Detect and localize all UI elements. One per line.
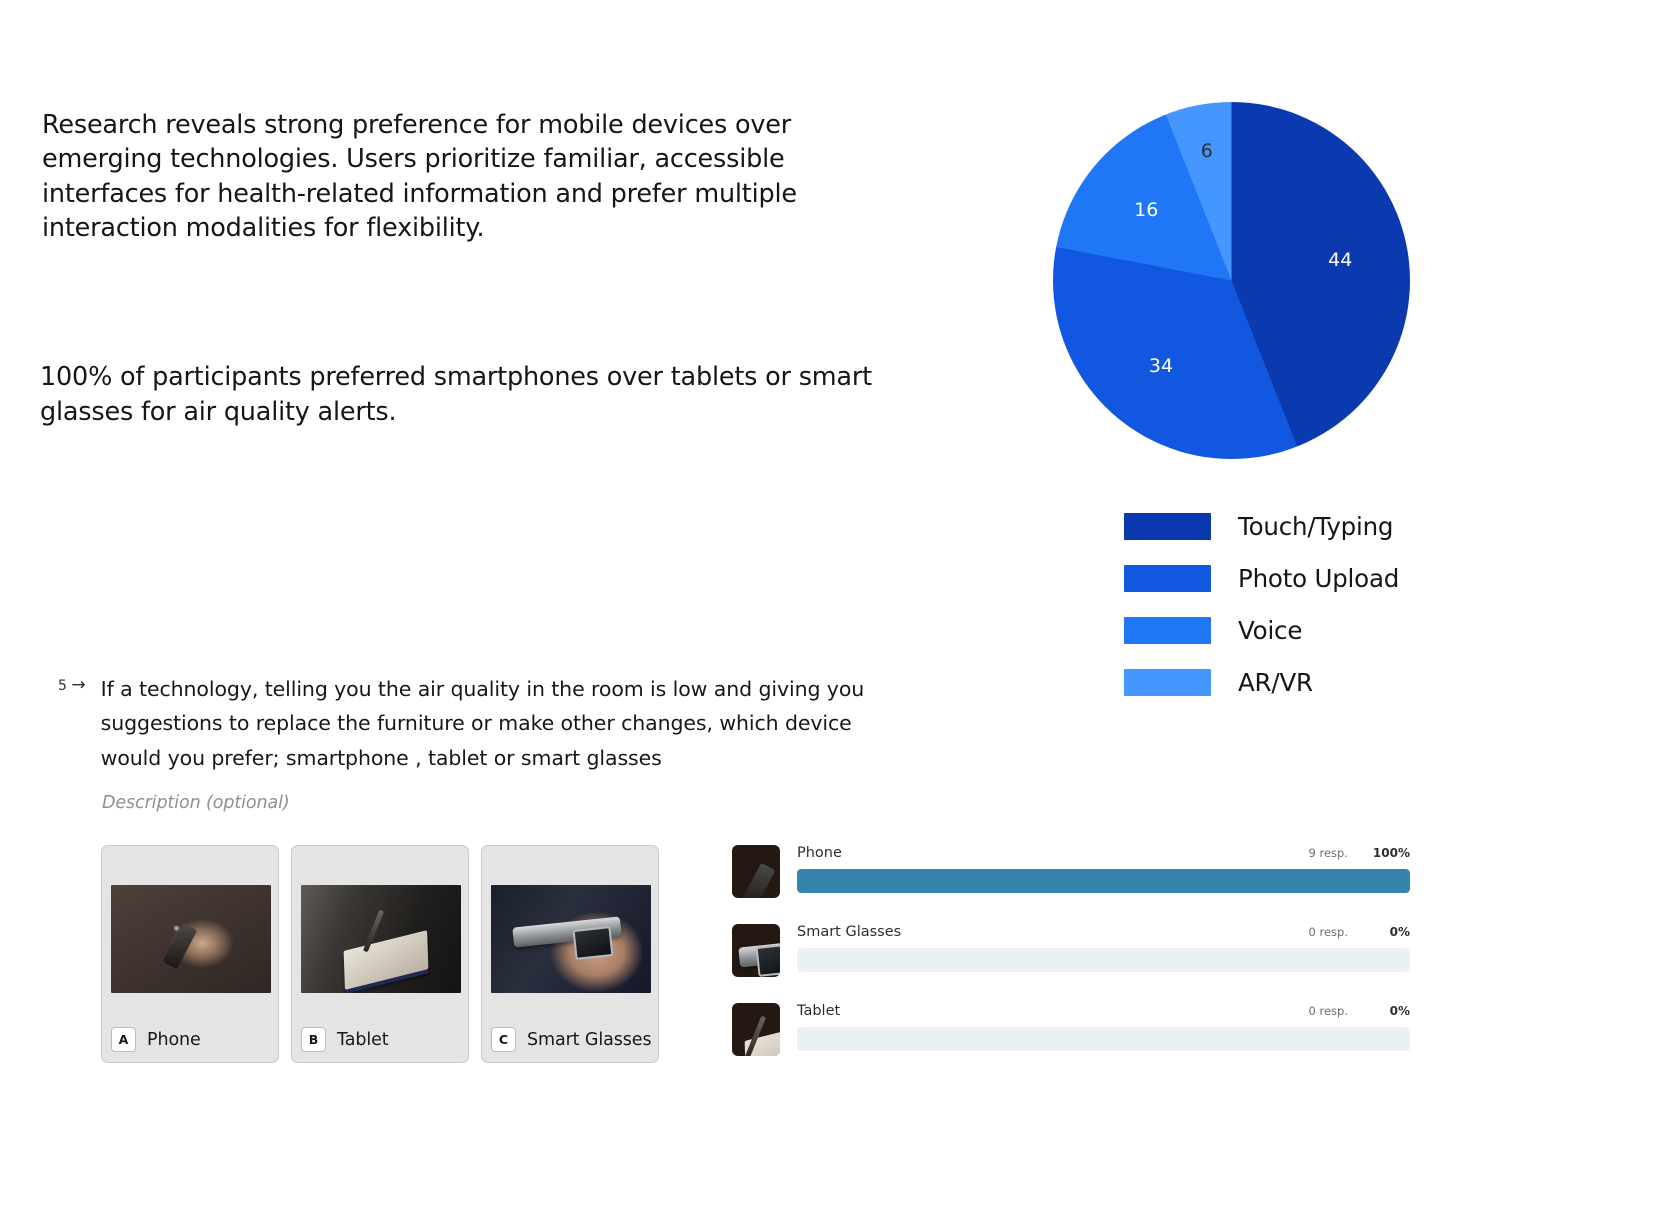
result-row-smart-glasses: Smart Glasses0 resp.0% [732,924,1410,977]
result-bar-fill-phone [797,869,1410,893]
result-percent-phone: 100% [1372,846,1410,860]
tablet-photo-icon [301,885,461,993]
result-label-phone: Phone [797,845,842,861]
option-label-row: C Smart Glasses [491,1027,651,1052]
legend-label-ar-vr: AR/VR [1238,668,1313,697]
option-badge-b: B [301,1027,326,1052]
option-label-row: A Phone [111,1027,201,1052]
legend-item-ar-vr[interactable]: AR/VR [1124,668,1399,697]
legend-swatch-photo-upload [1124,565,1211,592]
pie-slice-label-ar-vr: 6 [1201,140,1213,162]
option-cards: A Phone B Tablet C Smart Glasses [101,845,659,1063]
result-percent-smart-glasses: 0% [1372,925,1410,939]
legend-swatch-touch-typing [1124,513,1211,540]
legend-item-voice[interactable]: Voice [1124,616,1399,645]
result-bar-track-smart-glasses [797,948,1410,972]
question-description: Description (optional) [102,793,888,813]
results-panel: Phone9 resp.100%Smart Glasses0 resp.0%Ta… [732,845,1410,1056]
tablet-photo-icon [732,1003,780,1056]
question-row: 5 → If a technology, telling you the air… [58,672,888,775]
option-label-phone: Phone [147,1030,201,1050]
result-head: Smart Glasses0 resp.0% [797,924,1410,940]
pie-chart: 4434166 [1053,102,1410,459]
insight-paragraph-block: Research reveals strong preference for m… [42,108,872,246]
legend-item-photo-upload[interactable]: Photo Upload [1124,564,1399,593]
result-label-smart-glasses: Smart Glasses [797,924,901,940]
smart-glasses-photo-icon [491,885,651,993]
result-body: Smart Glasses0 resp.0% [797,924,1410,972]
legend-label-touch-typing: Touch/Typing [1238,512,1393,541]
option-card-phone[interactable]: A Phone [101,845,279,1063]
result-head: Tablet0 resp.0% [797,1003,1410,1019]
result-bar-track-tablet [797,1027,1410,1051]
result-responses-smart-glasses: 0 resp. [1309,925,1348,939]
pie-slice-label-photo-upload: 34 [1149,355,1173,377]
key-stat-text: 100% of participants preferred smartphon… [40,360,880,429]
result-stats: 0 resp.0% [1309,1004,1410,1018]
insight-paragraph: Research reveals strong preference for m… [42,108,872,246]
option-label-smart-glasses: Smart Glasses [527,1030,651,1050]
arrow-right-icon: → [67,672,85,695]
option-label-tablet: Tablet [337,1030,389,1050]
result-stats: 0 resp.0% [1309,925,1410,939]
result-head: Phone9 resp.100% [797,845,1410,861]
key-stat-block: 100% of participants preferred smartphon… [40,360,880,429]
legend-item-touch-typing[interactable]: Touch/Typing [1124,512,1399,541]
pie-disc [1053,102,1410,459]
legend-swatch-voice [1124,617,1211,644]
pie-slice-label-touch-typing: 44 [1328,249,1352,271]
result-label-tablet: Tablet [797,1003,840,1019]
result-responses-tablet: 0 resp. [1309,1004,1348,1018]
result-stats: 9 resp.100% [1309,846,1410,860]
legend-swatch-ar-vr [1124,669,1211,696]
legend-label-voice: Voice [1238,616,1302,645]
result-row-tablet: Tablet0 resp.0% [732,1003,1410,1056]
legend-label-photo-upload: Photo Upload [1238,564,1399,593]
question-text: If a technology, telling you the air qua… [101,672,888,775]
result-body: Tablet0 resp.0% [797,1003,1410,1051]
phone-photo-icon [732,845,780,898]
pie-slice-label-voice: 16 [1134,199,1158,221]
option-card-smart-glasses[interactable]: C Smart Glasses [481,845,659,1063]
result-responses-phone: 9 resp. [1309,846,1348,860]
option-label-row: B Tablet [301,1027,389,1052]
result-percent-tablet: 0% [1372,1004,1410,1018]
option-badge-a: A [111,1027,136,1052]
result-row-phone: Phone9 resp.100% [732,845,1410,898]
result-bar-track-phone [797,869,1410,893]
phone-photo-icon [111,885,271,993]
smart-glasses-photo-icon [732,924,780,977]
option-badge-c: C [491,1027,516,1052]
option-card-tablet[interactable]: B Tablet [291,845,469,1063]
question-block: 5 → If a technology, telling you the air… [58,672,888,813]
question-number: 5 [58,672,67,694]
result-body: Phone9 resp.100% [797,845,1410,893]
chart-legend: Touch/TypingPhoto UploadVoiceAR/VR [1124,512,1399,697]
